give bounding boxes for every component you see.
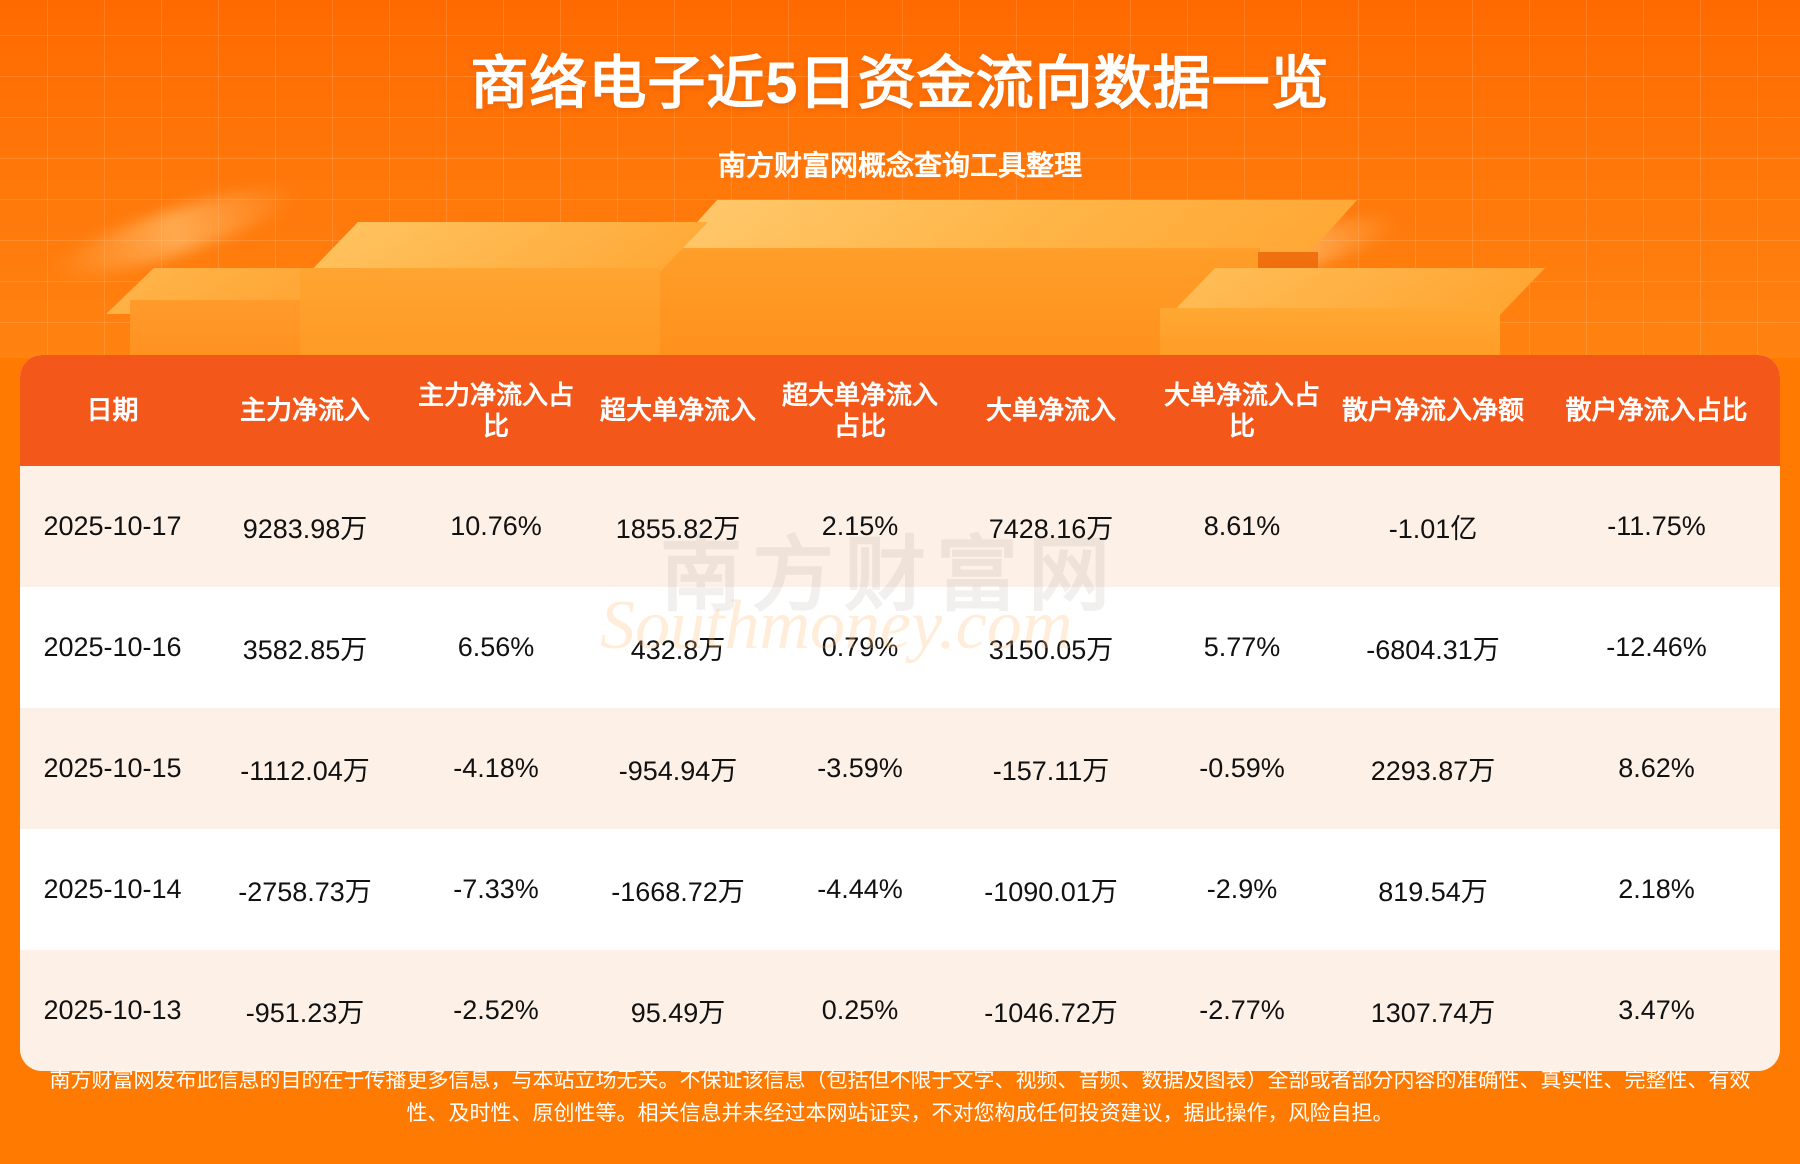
table-row: 2025-10-15 -1112.04万 -4.18% -954.94万 -3.…	[20, 708, 1780, 829]
cell-xl-net-ratio: 0.79%	[769, 587, 951, 708]
table-header-row: 日期 主力净流入 主力净流入占比 超大单净流入 超大单净流入占比 大单净流入 大…	[20, 355, 1780, 466]
podium-block-front	[300, 268, 660, 358]
cell-date: 2025-10-16	[20, 587, 205, 708]
column-header-large-net-ratio[interactable]: 大单净流入占比	[1151, 355, 1333, 466]
table-body: 2025-10-17 9283.98万 10.76% 1855.82万 2.15…	[20, 466, 1780, 1071]
column-header-main-net-inflow[interactable]: 主力净流入	[205, 355, 405, 466]
cell-xl-net-inflow: 432.8万	[587, 587, 769, 708]
podium-block-front	[1160, 308, 1500, 358]
cell-retail-net-ratio: -11.75%	[1533, 466, 1780, 587]
column-header-retail-net-ratio[interactable]: 散户净流入占比	[1533, 355, 1780, 466]
cell-main-net-inflow: -2758.73万	[205, 829, 405, 950]
page-subtitle: 南方财富网概念查询工具整理	[0, 144, 1800, 184]
cell-large-net-ratio: 8.61%	[1151, 466, 1333, 587]
table-row: 2025-10-17 9283.98万 10.76% 1855.82万 2.15…	[20, 466, 1780, 587]
cell-main-net-inflow: 3582.85万	[205, 587, 405, 708]
header-banner: 商络电子近5日资金流向数据一览 南方财富网概念查询工具整理	[0, 0, 1800, 358]
column-header-xl-net-ratio[interactable]: 超大单净流入占比	[769, 355, 951, 466]
cell-main-net-inflow: 9283.98万	[205, 466, 405, 587]
cell-retail-net-amount: 2293.87万	[1333, 708, 1533, 829]
cell-large-net-inflow: -1046.72万	[951, 950, 1151, 1071]
table-header: 日期 主力净流入 主力净流入占比 超大单净流入 超大单净流入占比 大单净流入 大…	[20, 355, 1780, 466]
cell-large-net-inflow: -1090.01万	[951, 829, 1151, 950]
cell-date: 2025-10-13	[20, 950, 205, 1071]
cell-main-net-ratio: 6.56%	[405, 587, 587, 708]
disclaimer-line-2: 性、及时性、原创性等。相关信息并未经过本网站证实，不对您构成任何投资建议，据此操…	[14, 1098, 1786, 1131]
cell-retail-net-amount: -6804.31万	[1333, 587, 1533, 708]
cell-main-net-ratio: -4.18%	[405, 708, 587, 829]
cell-main-net-ratio: -2.52%	[405, 950, 587, 1071]
cell-xl-net-inflow: 1855.82万	[587, 466, 769, 587]
cell-retail-net-amount: -1.01亿	[1333, 466, 1533, 587]
cell-xl-net-ratio: -4.44%	[769, 829, 951, 950]
cell-main-net-ratio: 10.76%	[405, 466, 587, 587]
cell-large-net-inflow: 3150.05万	[951, 587, 1151, 708]
disclaimer-footer: 南方财富网发布此信息的目的在于传播更多信息，与本站立场无关。不保证该信息（包括但…	[0, 1065, 1800, 1130]
cell-large-net-ratio: -2.9%	[1151, 829, 1333, 950]
cell-retail-net-amount: 819.54万	[1333, 829, 1533, 950]
cell-retail-net-ratio: 8.62%	[1533, 708, 1780, 829]
cell-xl-net-inflow: -1668.72万	[587, 829, 769, 950]
fund-flow-table: 日期 主力净流入 主力净流入占比 超大单净流入 超大单净流入占比 大单净流入 大…	[20, 355, 1780, 1071]
cell-large-net-inflow: 7428.16万	[951, 466, 1151, 587]
column-header-main-net-ratio[interactable]: 主力净流入占比	[405, 355, 587, 466]
cell-xl-net-inflow: -954.94万	[587, 708, 769, 829]
cell-xl-net-ratio: -3.59%	[769, 708, 951, 829]
column-header-xl-net-inflow[interactable]: 超大单净流入	[587, 355, 769, 466]
cell-large-net-inflow: -157.11万	[951, 708, 1151, 829]
cell-retail-net-ratio: 3.47%	[1533, 950, 1780, 1071]
cell-xl-net-ratio: 2.15%	[769, 466, 951, 587]
column-header-date[interactable]: 日期	[20, 355, 205, 466]
cell-retail-net-amount: 1307.74万	[1333, 950, 1533, 1071]
cell-date: 2025-10-17	[20, 466, 205, 587]
cell-large-net-ratio: -0.59%	[1151, 708, 1333, 829]
cell-main-net-ratio: -7.33%	[405, 829, 587, 950]
cell-retail-net-ratio: -12.46%	[1533, 587, 1780, 708]
table-row: 2025-10-16 3582.85万 6.56% 432.8万 0.79% 3…	[20, 587, 1780, 708]
cell-main-net-inflow: -1112.04万	[205, 708, 405, 829]
fund-flow-table-container: 日期 主力净流入 主力净流入占比 超大单净流入 超大单净流入占比 大单净流入 大…	[20, 355, 1780, 1071]
cell-large-net-ratio: -2.77%	[1151, 950, 1333, 1071]
cell-date: 2025-10-14	[20, 829, 205, 950]
cell-retail-net-ratio: 2.18%	[1533, 829, 1780, 950]
cell-xl-net-inflow: 95.49万	[587, 950, 769, 1071]
column-header-large-net-inflow[interactable]: 大单净流入	[951, 355, 1151, 466]
cell-main-net-inflow: -951.23万	[205, 950, 405, 1071]
cell-large-net-ratio: 5.77%	[1151, 587, 1333, 708]
cell-date: 2025-10-15	[20, 708, 205, 829]
cell-xl-net-ratio: 0.25%	[769, 950, 951, 1071]
page-title: 商络电子近5日资金流向数据一览	[0, 36, 1800, 120]
table-row: 2025-10-14 -2758.73万 -7.33% -1668.72万 -4…	[20, 829, 1780, 950]
column-header-retail-net-amount[interactable]: 散户净流入净额	[1333, 355, 1533, 466]
table-row: 2025-10-13 -951.23万 -2.52% 95.49万 0.25% …	[20, 950, 1780, 1071]
disclaimer-line-1: 南方财富网发布此信息的目的在于传播更多信息，与本站立场无关。不保证该信息（包括但…	[14, 1065, 1786, 1098]
